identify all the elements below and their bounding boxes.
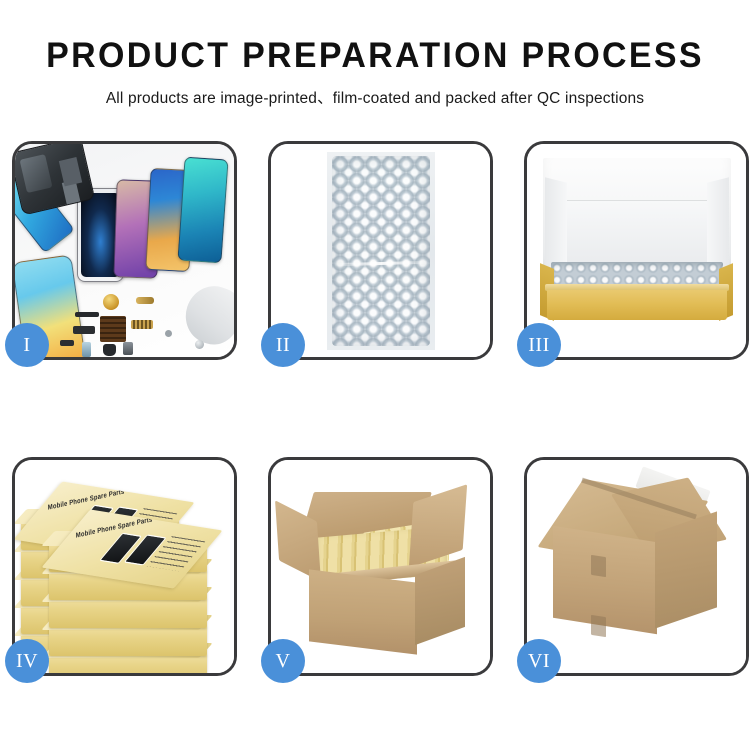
step-image-1	[15, 144, 234, 357]
process-step-grid: I II III	[0, 0, 750, 750]
part-ribbon-cable	[131, 320, 153, 329]
carton-side-panel	[655, 511, 717, 628]
step-badge-5: V	[261, 639, 305, 683]
bubble-wrap-scene	[271, 144, 490, 357]
inner-box-scene	[527, 144, 746, 357]
box-stack-scene: Mobile Phone Spare Parts Mobile Phone Sp…	[15, 460, 234, 673]
part-gold-flex	[136, 297, 154, 304]
part-bracket	[73, 326, 95, 334]
step-image-5	[271, 460, 490, 673]
bubble-wrap-sheet	[332, 156, 430, 346]
phones-and-parts-scene	[15, 144, 234, 357]
step-panel-5: V	[268, 457, 493, 676]
step-badge-2: II	[261, 323, 305, 367]
phone-teal	[177, 157, 228, 264]
step-image-4: Mobile Phone Spare Parts Mobile Phone Sp…	[15, 460, 234, 673]
step-panel-3: III	[524, 141, 749, 360]
step-image-2	[271, 144, 490, 357]
part-shield	[60, 340, 74, 346]
step-badge-1: I	[5, 323, 49, 367]
part-speaker	[103, 344, 116, 356]
part-vibrator-coil	[103, 294, 119, 310]
step-badge-6: VI	[517, 639, 561, 683]
step-panel-4: Mobile Phone Spare Parts Mobile Phone Sp…	[12, 457, 237, 676]
sealed-carton-scene	[527, 460, 746, 673]
carton-front-panel	[309, 569, 417, 654]
step-panel-2: II	[268, 141, 493, 360]
part-camera-module	[123, 342, 133, 355]
part-button	[195, 340, 204, 349]
carton-tab-lower	[591, 615, 606, 637]
step-badge-3: III	[517, 323, 561, 367]
stacked-box	[49, 654, 207, 673]
part-screw	[165, 330, 172, 337]
step-image-6	[527, 460, 746, 673]
carton-tab-upper	[591, 555, 606, 577]
stacked-box	[49, 598, 207, 628]
part-sim-tray	[82, 342, 91, 357]
hand-blur	[178, 279, 234, 351]
step-panel-6: VI	[524, 457, 749, 676]
box-front-panel	[547, 290, 727, 320]
step-panel-1: I	[12, 141, 237, 360]
step-image-3	[527, 144, 746, 357]
stacked-box	[49, 626, 207, 656]
box-lid-open	[543, 158, 731, 270]
carton-filling-scene	[271, 460, 490, 673]
part-chip-grid	[100, 316, 126, 342]
step-badge-4: IV	[5, 639, 49, 683]
box-stack: Mobile Phone Spare Parts Mobile Phone Sp…	[19, 486, 231, 673]
part-connector	[75, 312, 99, 317]
